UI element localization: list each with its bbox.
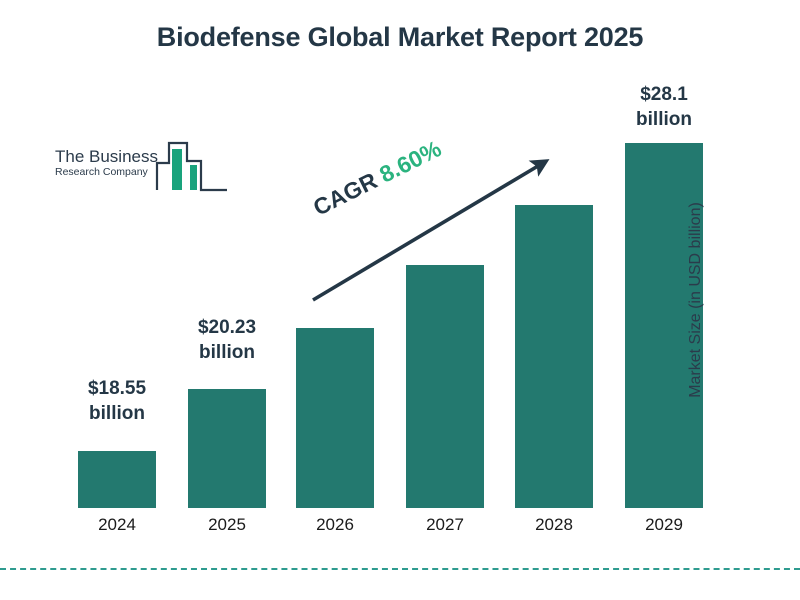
bar-2025 — [188, 389, 266, 508]
bar-value-2024-amount: $18.55 — [57, 376, 177, 401]
cagr-value: 8.60% — [375, 135, 445, 187]
y-axis-title: Market Size (in USD billion) — [687, 202, 705, 398]
bar-value-2025-unit: billion — [167, 340, 287, 365]
bar-value-2025: $20.23 billion — [167, 315, 287, 365]
x-tick-2029: 2029 — [625, 515, 703, 535]
bar-value-2025-amount: $20.23 — [167, 315, 287, 340]
bar-value-2024-unit: billion — [57, 401, 177, 426]
bar-value-2029-amount: $28.1 — [604, 82, 724, 107]
x-tick-2028: 2028 — [515, 515, 593, 535]
footer-divider — [0, 568, 800, 570]
cagr-label: CAGR — [309, 167, 381, 220]
bar-value-2024: $18.55 billion — [57, 376, 177, 426]
bar-chart-plot: $18.55 billion $20.23 billion $28.1 bill… — [0, 0, 800, 600]
chart-page: Biodefense Global Market Report 2025 The… — [0, 0, 800, 600]
x-tick-2027: 2027 — [406, 515, 484, 535]
x-tick-2025: 2025 — [188, 515, 266, 535]
bar-2024 — [78, 451, 156, 508]
bar-2026 — [296, 328, 374, 508]
x-tick-2026: 2026 — [296, 515, 374, 535]
cagr-annotation: CAGR 8.60% — [309, 135, 446, 221]
bar-value-2029: $28.1 billion — [604, 82, 724, 132]
x-tick-2024: 2024 — [78, 515, 156, 535]
bar-value-2029-unit: billion — [604, 107, 724, 132]
bar-2028 — [515, 205, 593, 508]
bar-2027 — [406, 265, 484, 508]
